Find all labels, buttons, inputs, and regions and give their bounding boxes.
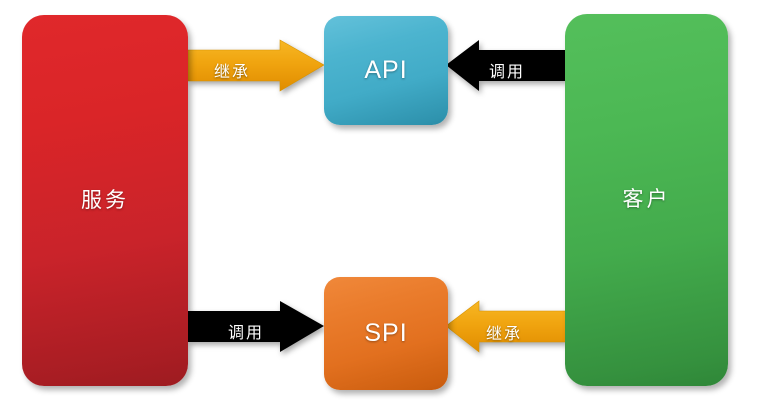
arrow-inherit-client-to-spi[interactable] xyxy=(446,301,566,353)
arrow-call-client-to-api[interactable] xyxy=(446,40,566,92)
node-client-label: 客户 xyxy=(623,188,671,211)
arrow-inherit-service-to-api[interactable] xyxy=(188,40,324,92)
arrow-call-service-to-spi[interactable] xyxy=(188,301,324,353)
node-service[interactable]: 服务 xyxy=(22,15,188,386)
diagram-canvas: 服务 API SPI 客户 继承 调用 xyxy=(0,0,765,409)
node-client[interactable]: 客户 xyxy=(565,14,728,386)
node-api[interactable]: API xyxy=(324,16,448,125)
node-spi[interactable]: SPI xyxy=(324,277,448,390)
node-spi-label: SPI xyxy=(364,320,407,348)
node-service-label: 服务 xyxy=(81,189,129,212)
node-api-label: API xyxy=(364,57,407,85)
